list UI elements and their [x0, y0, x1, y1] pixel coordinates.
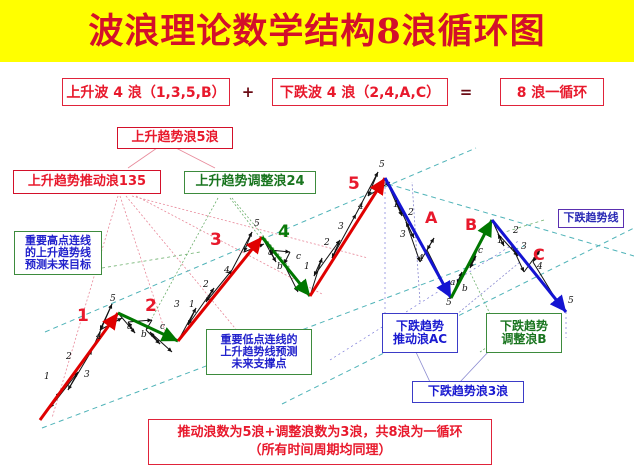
wave-5-up — [310, 178, 385, 296]
subwave-label: 1 — [189, 300, 195, 310]
callout-down-impulse-ac: 下跌趋势 推动浪AC — [382, 313, 458, 353]
subwave-label: 3 — [84, 370, 90, 380]
wave-label-3: 3 — [210, 230, 222, 250]
subwave-label: 4 — [224, 266, 230, 276]
wave-label-1: 1 — [77, 306, 89, 326]
callout-line-2: 调整浪B — [501, 333, 546, 346]
wave-label-b: B — [465, 215, 477, 234]
peak-label-5b: 5 — [254, 219, 260, 229]
summary-box: 推动浪数为5浪+调整浪数为3浪，共8浪为一循环 （所有时间周期均同理） — [148, 419, 492, 465]
callout-line-1: 下跌趋势 — [500, 320, 548, 333]
callout-down-trend-wave3: 下跌趋势浪3浪 — [412, 381, 524, 403]
wave-c-down — [492, 220, 566, 312]
callout-line-3: 未来支撑点 — [232, 358, 287, 370]
callout-up-impulse-135: 上升趋势推动浪135 — [13, 170, 161, 194]
callout-line-1: 重要低点连线的 — [221, 334, 298, 346]
summary-line-1: 推动浪数为5浪+调整浪数为3浪，共8浪为一循环 — [177, 424, 462, 442]
subwave-label: 2 — [203, 280, 209, 290]
formula-up-term: 上升波 4 浪（1,3,5,B） — [62, 78, 230, 106]
subwave-label: b — [141, 330, 147, 340]
formula-plus: + — [236, 78, 260, 106]
peak-label-5a: 5 — [110, 294, 116, 304]
wave-a-down — [385, 178, 451, 298]
wave-4-down — [262, 237, 310, 296]
subwave-label: b — [462, 284, 468, 294]
wave-3-up — [178, 237, 262, 341]
peak-label-5c: 5 — [379, 160, 385, 170]
subwave-label: c — [296, 252, 301, 262]
subwave-label: 1 — [304, 262, 310, 272]
subwave-label: 3 — [521, 242, 527, 252]
wave-label-5: 5 — [348, 174, 360, 194]
callout-low-trendline-note: 重要低点连线的 上升趋势线预测 未来支撑点 — [206, 329, 312, 375]
callout-down-correction-b: 下跌趋势 调整浪B — [486, 313, 562, 353]
wave-label-a: A — [425, 208, 437, 227]
subwave-label: 3 — [174, 300, 180, 310]
callout-line-1: 下跌趋势 — [396, 320, 444, 333]
wave-1-up — [40, 313, 118, 420]
formula-row: 上升波 4 浪（1,3,5,B） + 下跌波 4 浪（2,4,A,C） = 8 … — [0, 78, 634, 112]
peak-label-5d: 5 — [446, 298, 452, 308]
slide-canvas: 波浪理论数学结构8浪循环图 上升波 4 浪（1,3,5,B） + 下跌波 4 浪… — [0, 0, 634, 471]
callout-up-trend-wave5: 上升趋势浪5浪 — [117, 127, 233, 149]
subwave-label: 2 — [66, 352, 72, 362]
subwave-label: 4 — [537, 262, 543, 272]
summary-line-2: （所有时间周期均同理） — [248, 442, 391, 460]
subwave-label: a — [268, 248, 273, 258]
subwave-label: 2 — [324, 238, 330, 248]
subwave-label: 4 — [358, 202, 364, 212]
subwave-label: a — [450, 278, 455, 288]
subwave-label: 3 — [338, 222, 344, 232]
subwave-label: 2 — [513, 226, 519, 236]
formula-down-term: 下跌波 4 浪（2,4,A,C） — [272, 78, 448, 106]
formula-result: 8 浪一循环 — [500, 78, 604, 106]
subwave-label: c — [478, 246, 483, 256]
subwave-label: 4 — [418, 254, 424, 264]
subwave-label: 1 — [44, 372, 50, 382]
formula-equals: = — [454, 78, 478, 106]
wave-label-4: 4 — [278, 222, 290, 242]
wave-label-2: 2 — [145, 296, 157, 316]
callout-high-trendline-note: 重要高点连线 的上升趋势线 预测未来目标 — [14, 231, 102, 275]
subwave-label: 2 — [408, 208, 414, 218]
subwave-label: c — [160, 322, 165, 332]
subwave-label: a — [127, 322, 132, 332]
subwave-label: 4 — [96, 332, 102, 342]
peak-label-5e: 5 — [568, 296, 574, 306]
subwave-label: 3 — [400, 230, 406, 240]
subwave-label: 1 — [393, 200, 399, 210]
subwave-label: b — [277, 262, 283, 272]
callout-up-correction-24: 上升趋势调整浪24 — [184, 171, 316, 194]
callout-line-3: 预测未来目标 — [25, 259, 91, 271]
callout-line-1: 重要高点连线 — [25, 235, 91, 247]
callout-down-trendline: 下跌趋势线 — [558, 209, 624, 228]
subwave-label: 1 — [497, 236, 503, 246]
callout-line-2: 推动浪AC — [393, 333, 447, 346]
